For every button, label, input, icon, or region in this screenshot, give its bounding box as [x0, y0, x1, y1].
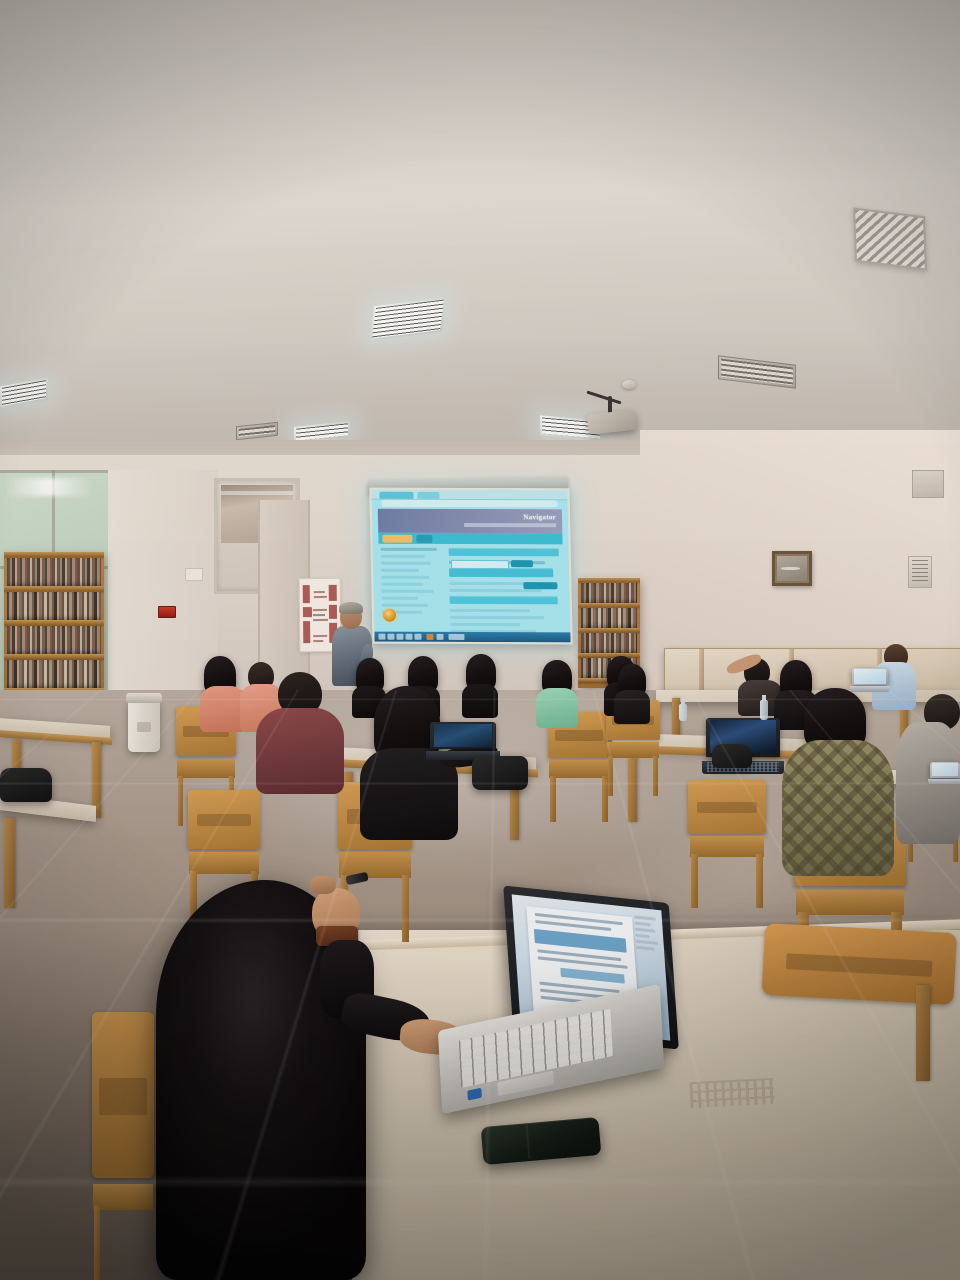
bag-on-right-table	[712, 744, 752, 768]
chair-foreground-right-leg	[916, 985, 930, 1081]
search-button	[511, 560, 533, 567]
person-student-teal	[536, 660, 578, 726]
projector-cable	[586, 391, 621, 405]
windows-taskbar	[374, 632, 570, 643]
fire-alarm-icon	[158, 606, 176, 618]
navbar-secondary-button	[416, 535, 432, 543]
browser-url-bar	[382, 500, 558, 508]
chair-4[interactable]	[548, 712, 610, 822]
site-nav-links	[464, 523, 556, 527]
table-left2-leg	[4, 818, 15, 908]
wall-sign	[185, 568, 203, 581]
wall-fixture-box	[912, 470, 944, 498]
laptop-carrel[interactable]	[852, 668, 888, 692]
water-bottle-1	[760, 700, 768, 720]
smoke-detector-icon	[622, 380, 636, 389]
sidebar-facets	[381, 548, 444, 618]
person-foreground-student	[104, 880, 434, 1280]
laptop-far-right[interactable]	[930, 762, 960, 784]
laptop-sticker	[467, 1088, 482, 1101]
person-carrel-woman	[614, 664, 650, 722]
ceiling-light-panel-2	[0, 378, 48, 408]
waste-bin	[128, 700, 160, 752]
browser-tab-bar	[371, 490, 567, 501]
ceiling-light-panel-1	[370, 297, 447, 340]
partition-light-reflection	[8, 478, 88, 496]
person-student-maroon	[256, 672, 344, 792]
projection-screen: Navigator	[369, 488, 572, 645]
suspended-ceiling	[0, 0, 960, 500]
ceiling-air-diffuser-1	[853, 207, 927, 270]
foreground-fingers	[310, 876, 336, 894]
search-field	[451, 560, 509, 569]
site-header: Navigator	[378, 509, 563, 534]
table-surface-marks	[689, 1078, 774, 1108]
person-student-hijab-back-3	[462, 654, 498, 716]
water-bottle-2	[679, 704, 687, 721]
laptop-student-mid[interactable]	[430, 722, 496, 760]
ceiling-air-vent-3	[236, 422, 278, 440]
document-sidebar	[634, 915, 660, 954]
ceiling-projector	[587, 410, 637, 435]
person-student-plaid	[782, 688, 894, 874]
navbar-primary-button	[382, 535, 412, 543]
site-logo: Navigator	[523, 513, 556, 521]
framed-picture	[772, 551, 812, 586]
action-button	[523, 582, 557, 589]
bag-on-mid-table	[472, 756, 528, 790]
bag-on-left-table	[0, 768, 52, 802]
laptop-foreground[interactable]	[440, 895, 670, 1120]
library-seminar-photo: Navigator	[0, 0, 960, 1280]
ceiling-air-vent-1	[718, 355, 796, 389]
wall-control-box	[908, 556, 932, 588]
institution-emblem-icon	[383, 609, 396, 622]
chair-6[interactable]	[688, 780, 766, 908]
